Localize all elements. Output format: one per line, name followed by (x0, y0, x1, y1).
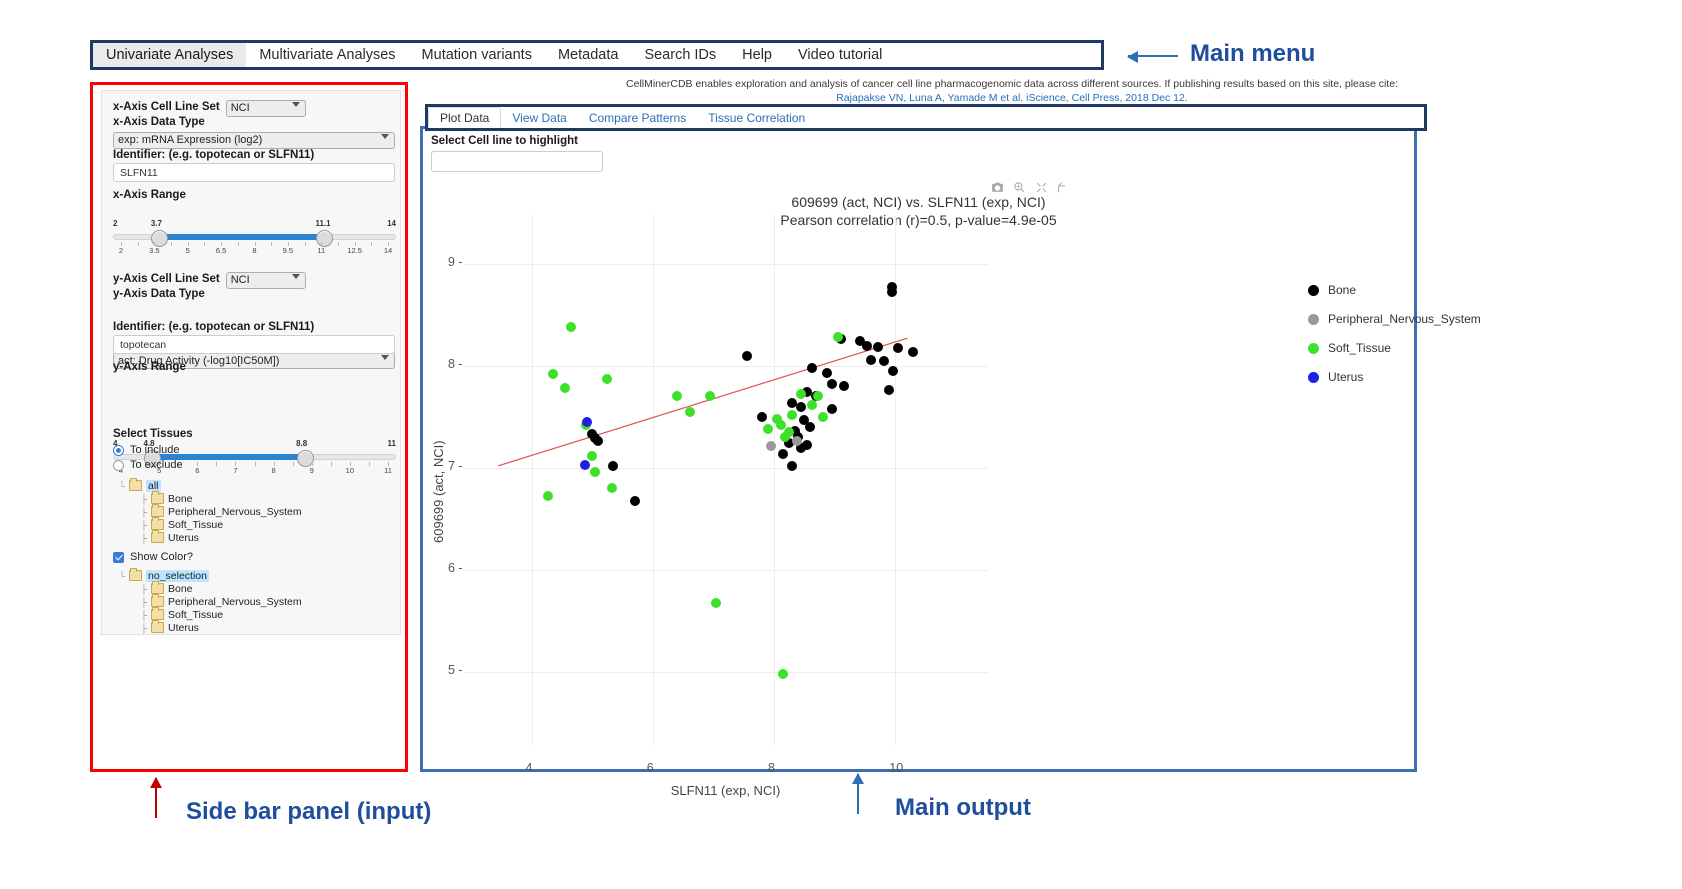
data-point[interactable] (866, 355, 876, 365)
folder-icon (151, 519, 164, 530)
data-point[interactable] (587, 451, 597, 461)
citation-line-1: CellMinerCDB enables exploration and ana… (512, 78, 1512, 90)
data-point[interactable] (827, 379, 837, 389)
y-tick-label: 8 - (448, 357, 463, 371)
y-axis-datatype-label: y-Axis Data Type (113, 288, 205, 300)
tissue-color-item-2[interactable]: ├Soft_Tissue (137, 608, 302, 621)
data-point[interactable] (607, 483, 617, 493)
y-slider-high-value: 8.8 (296, 439, 307, 448)
radio-to-include[interactable]: To include (113, 444, 183, 456)
sub-menu-item-3[interactable]: Tissue Correlation (697, 107, 816, 128)
tissue-color-item-label: Soft_Tissue (168, 609, 223, 621)
tissue-include-item-label: Soft_Tissue (168, 519, 223, 531)
legend-item-label: Peripheral_Nervous_System (1328, 312, 1481, 326)
radio-to-exclude[interactable]: To exclude (113, 459, 183, 471)
sub-menu-item-label: View Data (512, 111, 566, 125)
sub-menu-item-label: Plot Data (440, 111, 489, 125)
sidebar-panel: x-Axis Cell Line Set NCI x-Axis Data Typ… (90, 82, 408, 772)
data-point[interactable] (778, 449, 788, 459)
data-point[interactable] (827, 404, 837, 414)
x-axis-datatype-select-wrap[interactable]: exp: mRNA Expression (log2) (113, 130, 395, 149)
tissue-include-item-label: Peripheral_Nervous_System (168, 506, 302, 518)
slider-tick-label: 12.5 (347, 246, 362, 255)
x-tick-label: 10 (889, 761, 903, 775)
sub-menu-item-0[interactable]: Plot Data (428, 107, 501, 128)
radio-include-icon[interactable] (113, 445, 124, 456)
tissue-color-root[interactable]: └no_selection (115, 569, 302, 582)
legend-item-0[interactable]: Bone (1308, 283, 1356, 297)
tissue-mode-radiogroup[interactable]: To include To exclude (113, 441, 183, 471)
x-slider-fill (159, 234, 324, 240)
tissue-include-item-3[interactable]: ├Uterus (137, 531, 302, 544)
tissue-include-root[interactable]: └all (115, 479, 302, 492)
tree-branch-icon: ├ (137, 507, 151, 517)
data-point[interactable] (580, 460, 590, 470)
show-color-checkbox[interactable] (113, 552, 124, 563)
tissue-color-item-label: Uterus (168, 622, 199, 634)
tree-branch-icon: ├ (137, 597, 151, 607)
scatter-plot[interactable]: 609699 (act, NCI) vs. SLFN11 (exp, NCI) … (423, 153, 1414, 769)
tissue-include-item-label: Uterus (168, 532, 199, 544)
main-menu-item-label: Help (742, 47, 772, 63)
y-tick-label: 6 - (448, 561, 463, 575)
annotation-arrow-main-menu (1128, 55, 1178, 57)
tissue-tree-include[interactable]: └all├Bone├Peripheral_Nervous_System├Soft… (115, 479, 302, 544)
data-point[interactable] (807, 400, 817, 410)
y-tick-label: 7 - (448, 459, 463, 473)
x-slider-high-value: 11.1 (315, 219, 330, 228)
folder-icon (151, 583, 164, 594)
x-axis-cellline-label: x-Axis Cell Line Set (113, 101, 220, 113)
radio-exclude-label: To exclude (130, 459, 183, 471)
trendline (423, 153, 1414, 769)
tissue-color-item-label: Peripheral_Nervous_System (168, 596, 302, 608)
tissue-tree-color[interactable]: └no_selection├Bone├Peripheral_Nervous_Sy… (115, 569, 302, 634)
legend-item-3[interactable]: Uterus (1308, 370, 1363, 384)
main-menu-item-1[interactable]: Multivariate Analyses (246, 43, 408, 67)
data-point[interactable] (548, 369, 558, 379)
x-axis-label: SLFN11 (exp, NCI) (423, 783, 1028, 798)
annotation-main-menu: Main menu (1190, 40, 1315, 68)
radio-include-label: To include (130, 444, 180, 456)
folder-icon (151, 493, 164, 504)
slider-tick-label: 5 (186, 246, 190, 255)
data-point[interactable] (818, 412, 828, 422)
tissue-include-root-label: all (146, 480, 161, 492)
tree-branch-icon: ├ (137, 610, 151, 620)
y-axis-range-label: y-Axis Range (113, 361, 186, 373)
slider-tick-label: 10 (346, 466, 354, 475)
x-axis-datatype-select[interactable]: exp: mRNA Expression (log2) (113, 132, 395, 149)
main-menu-item-5[interactable]: Help (729, 43, 785, 67)
sub-menu-item-label: Tissue Correlation (708, 111, 805, 125)
data-point[interactable] (757, 412, 767, 422)
tree-branch-icon: ├ (137, 520, 151, 530)
x-axis-identifier-label: Identifier: (e.g. topotecan or SLFN11) (113, 149, 314, 161)
tree-branch-icon: ├ (137, 584, 151, 594)
folder-icon (129, 480, 142, 491)
x-axis-cellline-row: x-Axis Cell Line Set NCI (113, 98, 306, 117)
sub-menu[interactable]: Plot DataView DataCompare PatternsTissue… (425, 104, 1427, 131)
tissue-include-item-2[interactable]: ├Soft_Tissue (137, 518, 302, 531)
y-tick-label: 5 - (448, 663, 463, 677)
citation-reference-link[interactable]: Rajapakse VN, Luna A, Yamade M et al. iS… (512, 92, 1512, 104)
main-menu-item-0[interactable]: Univariate Analyses (93, 43, 246, 67)
slider-tick-label: 11 (384, 466, 392, 475)
legend-item-label: Soft_Tissue (1328, 341, 1391, 355)
folder-icon (151, 596, 164, 607)
data-point[interactable] (879, 356, 889, 366)
y-tick-label: 9 - (448, 255, 463, 269)
tissue-color-root-label: no_selection (146, 570, 209, 582)
tree-expander-icon[interactable]: └ (115, 481, 129, 491)
slider-tick-label: 9 (310, 466, 314, 475)
tree-branch-icon: ├ (137, 533, 151, 543)
main-menu-item-label: Search IDs (644, 47, 716, 63)
legend-color-swatch (1308, 314, 1319, 325)
show-color-label: Show Color? (130, 551, 193, 563)
slider-tick-label: 14 (384, 246, 392, 255)
legend-color-swatch (1308, 372, 1319, 383)
folder-icon (151, 622, 164, 633)
x-tick-label: 4 (526, 761, 533, 775)
folder-icon (151, 532, 164, 543)
annotation-main-output: Main output (895, 794, 1031, 822)
x-axis-cellline-select-wrap[interactable]: NCI (226, 98, 306, 117)
y-axis-cellline-select[interactable]: NCI (226, 272, 306, 289)
data-point[interactable] (839, 381, 849, 391)
slider-tick-label: 7 (233, 466, 237, 475)
x-axis-identifier-input[interactable] (113, 163, 395, 182)
slider-tick-label: 2 (119, 246, 123, 255)
select-tissues-label: Select Tissues (113, 428, 193, 440)
data-point[interactable] (630, 496, 640, 506)
slider-tick-label: 6.5 (216, 246, 226, 255)
citation-block: CellMinerCDB enables exploration and ana… (512, 78, 1512, 104)
slider-tick-label: 11 (317, 246, 325, 255)
y-axis-cellline-row: y-Axis Cell Line Set NCI (113, 270, 306, 289)
tissue-color-item-1[interactable]: ├Peripheral_Nervous_System (137, 595, 302, 608)
main-output-panel: Select Cell line to highlight 609699 (ac… (420, 126, 1417, 772)
sub-menu-item-1[interactable]: View Data (501, 107, 577, 128)
sidebar-inner: x-Axis Cell Line Set NCI x-Axis Data Typ… (101, 90, 401, 635)
x-tick-label: 6 (647, 761, 654, 775)
tissue-include-item-0[interactable]: ├Bone (137, 492, 302, 505)
main-menu-item-label: Univariate Analyses (106, 47, 233, 63)
tree-branch-icon: ├ (137, 494, 151, 504)
x-tick-label: 8 (768, 761, 775, 775)
folder-icon (129, 570, 142, 581)
main-menu-item-label: Mutation variants (422, 47, 532, 63)
x-slider-max-endpoint: 14 (387, 219, 396, 228)
main-menu-item-6[interactable]: Video tutorial (785, 43, 895, 67)
annotation-arrow-sidebar (155, 778, 157, 818)
x-slider-tick-labels: 23.556.589.51112.514 (113, 246, 396, 256)
data-point[interactable] (566, 322, 576, 332)
radio-exclude-icon[interactable] (113, 460, 124, 471)
legend-color-swatch (1308, 285, 1319, 296)
data-point[interactable] (742, 351, 752, 361)
folder-icon (151, 506, 164, 517)
data-point[interactable] (763, 424, 773, 434)
x-slider-min-endpoint: 2 (113, 219, 117, 228)
x-axis-range-slider[interactable]: 2 14 3.7 11.1 23.556.589.51112.514 (113, 223, 396, 253)
plot-canvas[interactable]: 468105 -6 -7 -8 -9 - (423, 153, 1414, 769)
y-axis-cellline-label: y-Axis Cell Line Set (113, 273, 220, 285)
y-axis-identifier-input[interactable] (113, 335, 395, 354)
data-point[interactable] (787, 461, 797, 471)
data-point[interactable] (796, 402, 806, 412)
main-menu-item-label: Multivariate Analyses (259, 47, 395, 63)
main-menu[interactable]: Univariate AnalysesMultivariate Analyses… (90, 40, 1104, 70)
slider-tick-label: 8 (252, 246, 256, 255)
y-axis-identifier-label: Identifier: (e.g. topotecan or SLFN11) (113, 321, 314, 333)
legend-item-1[interactable]: Peripheral_Nervous_System (1308, 312, 1481, 326)
data-point[interactable] (787, 410, 797, 420)
sub-menu-item-label: Compare Patterns (589, 111, 686, 125)
main-menu-item-2[interactable]: Mutation variants (409, 43, 545, 67)
tissue-include-item-1[interactable]: ├Peripheral_Nervous_System (137, 505, 302, 518)
folder-icon (151, 609, 164, 620)
legend-item-2[interactable]: Soft_Tissue (1308, 341, 1391, 355)
legend-item-label: Bone (1328, 283, 1356, 297)
tree-branch-icon: ├ (137, 623, 151, 633)
slider-tick-label: 6 (195, 466, 199, 475)
y-slider-max-endpoint: 11 (388, 439, 396, 448)
legend-item-label: Uterus (1328, 370, 1363, 384)
show-color-row[interactable]: Show Color? (113, 551, 193, 563)
main-menu-item-label: Metadata (558, 47, 618, 63)
tissue-include-item-label: Bone (168, 493, 193, 505)
x-axis-range-label: x-Axis Range (113, 189, 186, 201)
slider-tick-label: 3.5 (149, 246, 159, 255)
data-point[interactable] (807, 363, 817, 373)
sub-menu-item-2[interactable]: Compare Patterns (578, 107, 697, 128)
y-axis-cellline-select-wrap[interactable]: NCI (226, 270, 306, 289)
x-axis-cellline-select[interactable]: NCI (226, 100, 306, 117)
main-menu-item-4[interactable]: Search IDs (631, 43, 729, 67)
x-slider-low-value: 3.7 (151, 219, 162, 228)
main-menu-item-3[interactable]: Metadata (545, 43, 631, 67)
tissue-color-item-0[interactable]: ├Bone (137, 582, 302, 595)
x-axis-datatype-label: x-Axis Data Type (113, 116, 205, 128)
highlight-cellline-label: Select Cell line to highlight (431, 135, 578, 147)
legend-color-swatch (1308, 343, 1319, 354)
main-menu-item-label: Video tutorial (798, 47, 882, 63)
annotation-sidebar: Side bar panel (input) (186, 798, 431, 826)
data-point[interactable] (833, 332, 843, 342)
tree-expander-icon[interactable]: └ (115, 571, 129, 581)
slider-tick-label: 9.5 (283, 246, 293, 255)
slider-tick-label: 8 (271, 466, 275, 475)
tissue-color-item-label: Bone (168, 583, 193, 595)
tissue-color-item-3[interactable]: ├Uterus (137, 621, 302, 634)
